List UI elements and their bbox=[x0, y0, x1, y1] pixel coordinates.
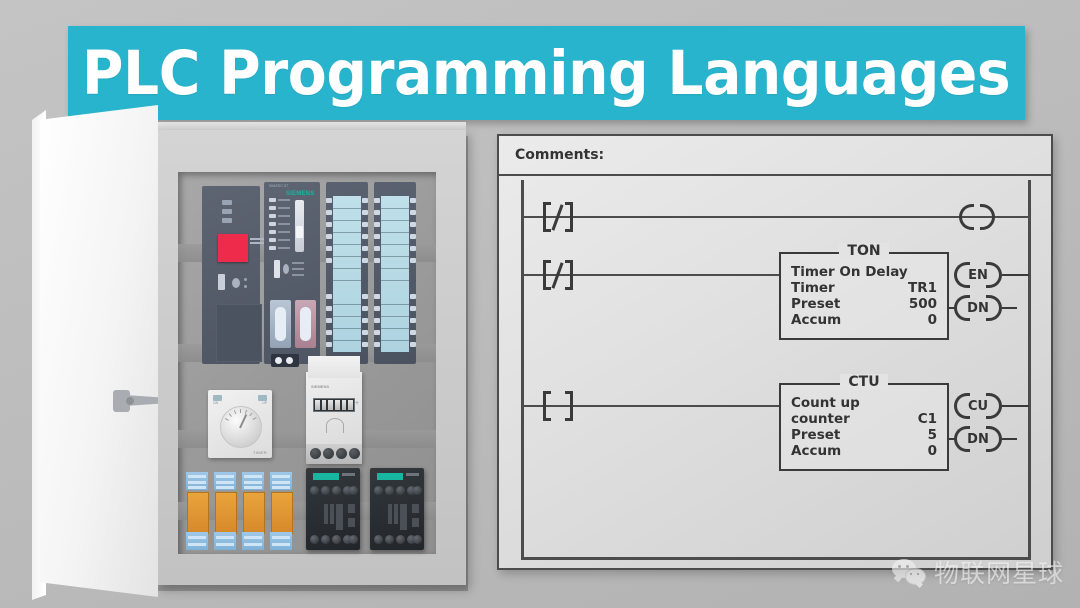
cpu-led-label bbox=[278, 199, 290, 201]
ton-row-value: TR1 bbox=[908, 280, 937, 296]
ctu-row-value: 0 bbox=[928, 443, 937, 459]
ton-row-label: Accum bbox=[791, 312, 841, 328]
rung-2-nc-contact[interactable] bbox=[543, 260, 573, 290]
ctu-block-title: CTU bbox=[781, 374, 947, 390]
fuse-terminal-block[interactable] bbox=[270, 472, 292, 550]
cpu-led-label bbox=[278, 239, 290, 241]
ctu-row: Accum 0 bbox=[791, 443, 937, 459]
cpu-module[interactable]: SIMATIC S7 SIEMENS bbox=[264, 182, 320, 364]
wechat-watermark: 物联网星球 bbox=[892, 554, 1064, 590]
timer-up-label: UP bbox=[262, 401, 267, 405]
cpu-led-label bbox=[278, 207, 290, 209]
ctu-row-label: Accum bbox=[791, 443, 841, 459]
counter-terminal-base bbox=[306, 444, 362, 464]
io-module[interactable] bbox=[374, 182, 416, 364]
ctu-row: Count up bbox=[791, 395, 937, 411]
timer-on-label: ON bbox=[213, 401, 218, 405]
key-switch[interactable] bbox=[274, 260, 280, 278]
fuse-terminal-block[interactable] bbox=[242, 472, 264, 550]
ton-row: Accum 0 bbox=[791, 312, 937, 328]
ctu-row-value: C1 bbox=[918, 411, 937, 427]
comments-label: Comments: bbox=[515, 147, 604, 163]
cpu-model-text: SIMATIC S7 bbox=[269, 184, 288, 188]
ctu-row: counter C1 bbox=[791, 411, 937, 427]
siemens-brand-label: SIEMENS bbox=[311, 384, 329, 389]
ton-dn-stub bbox=[949, 307, 957, 309]
screw-terminal[interactable] bbox=[349, 448, 360, 459]
ctu-dn-label: DN bbox=[954, 426, 1002, 452]
ton-row-value: 0 bbox=[928, 312, 937, 328]
profibus-port[interactable] bbox=[270, 300, 291, 348]
cpu-led-label bbox=[278, 223, 290, 225]
screw-terminal[interactable] bbox=[310, 448, 321, 459]
reset-button[interactable] bbox=[283, 264, 289, 274]
wechat-icon bbox=[892, 559, 926, 585]
ctu-cu-wire bbox=[1002, 405, 1029, 407]
comments-bar[interactable]: Comments: bbox=[499, 136, 1051, 176]
ctu-cu-coil[interactable]: CU bbox=[954, 393, 1002, 419]
emergency-stop-button[interactable] bbox=[218, 234, 248, 262]
cpu-led bbox=[269, 230, 276, 234]
timer-device-label: TIMER bbox=[253, 450, 267, 455]
cabinet-interior: SIMATIC S7 SIEMENS bbox=[178, 172, 436, 554]
screw-terminal[interactable] bbox=[323, 448, 334, 459]
contactor[interactable] bbox=[306, 468, 360, 550]
fuse-terminal-block[interactable] bbox=[214, 472, 236, 550]
io-module[interactable] bbox=[326, 182, 368, 364]
left-power-rail bbox=[521, 180, 524, 560]
cabinet-body: SIMATIC S7 SIEMENS bbox=[156, 130, 466, 585]
ton-row: Timer TR1 bbox=[791, 280, 937, 296]
ton-row-label: Timer bbox=[791, 280, 835, 296]
indicator-dot bbox=[244, 278, 247, 281]
ctu-row-label: counter bbox=[791, 411, 850, 427]
timer-adjust-knob[interactable] bbox=[220, 406, 262, 448]
mpi-port[interactable] bbox=[295, 300, 316, 348]
switch-label bbox=[292, 274, 304, 276]
cpu-led-label bbox=[278, 247, 290, 249]
ton-dn-label: DN bbox=[954, 295, 1002, 321]
terminal-strip bbox=[381, 196, 409, 352]
ton-dn-wire bbox=[1002, 307, 1017, 309]
ctu-row-value: 5 bbox=[928, 427, 937, 443]
status-led bbox=[222, 218, 232, 223]
cabinet-door[interactable] bbox=[40, 105, 158, 597]
ton-dn-coil[interactable]: DN bbox=[954, 295, 1002, 321]
rung-1-wire bbox=[523, 216, 1029, 218]
ctu-row-label: Preset bbox=[791, 427, 840, 443]
ton-block-title: TON bbox=[781, 243, 947, 259]
siemens-brand-label bbox=[313, 473, 339, 480]
page-title: PLC Programming Languages bbox=[82, 43, 1010, 104]
status-led bbox=[222, 209, 232, 214]
switch-label bbox=[292, 262, 304, 264]
ton-row: Preset 500 bbox=[791, 296, 937, 312]
ton-en-label: EN bbox=[954, 262, 1002, 288]
door-handle[interactable] bbox=[113, 390, 161, 412]
screenshot-canvas: PLC Programming Languages bbox=[0, 0, 1080, 608]
siemens-brand-label: SIEMENS bbox=[286, 191, 314, 197]
ton-row-value: 500 bbox=[909, 296, 937, 312]
mode-slider-switch[interactable] bbox=[295, 200, 304, 252]
ton-block-body: Timer On Delay Timer TR1 Preset 500 Accu… bbox=[791, 264, 937, 328]
ton-function-block[interactable]: TON Timer On Delay Timer TR1 Preset 500 … bbox=[779, 252, 949, 340]
ctu-dn-stub bbox=[949, 438, 957, 440]
contactor-model-label bbox=[406, 473, 419, 476]
cpu-led bbox=[269, 222, 276, 226]
terminal-strip bbox=[333, 196, 361, 352]
counter-display bbox=[313, 398, 355, 412]
contactor[interactable] bbox=[370, 468, 424, 550]
counter-symbol-icon bbox=[326, 418, 344, 433]
timer-relay-device[interactable]: ON UP TIMER bbox=[208, 390, 272, 458]
ctu-dn-coil[interactable]: DN bbox=[954, 426, 1002, 452]
counter-plus-label: + bbox=[355, 400, 359, 407]
cpu-led-label bbox=[278, 215, 290, 217]
plc-control-cabinet: SIMATIC S7 SIEMENS bbox=[0, 100, 480, 608]
right-power-rail bbox=[1028, 180, 1031, 560]
contactor-model-label bbox=[342, 473, 355, 476]
switch-label bbox=[292, 268, 304, 270]
rung-1-output-coil[interactable] bbox=[959, 204, 995, 230]
ctu-block-body: Count up counter C1 Preset 5 Accum 0 bbox=[791, 395, 937, 459]
status-led bbox=[222, 200, 232, 205]
watermark-text: 物联网星球 bbox=[934, 554, 1064, 590]
screw-terminal[interactable] bbox=[336, 448, 347, 459]
cpu-led-label bbox=[278, 231, 290, 233]
cpu-led bbox=[269, 198, 276, 202]
ton-row-label: Preset bbox=[791, 296, 840, 312]
counter-device[interactable]: SIEMENS + bbox=[306, 372, 362, 464]
ctu-row-label: Count up bbox=[791, 395, 860, 411]
rung-3-no-contact[interactable] bbox=[543, 391, 573, 421]
power-connector[interactable] bbox=[271, 354, 299, 367]
ctu-cu-label: CU bbox=[954, 393, 1002, 419]
cpu-led bbox=[269, 214, 276, 218]
siemens-brand-label bbox=[377, 473, 403, 480]
power-supply-module[interactable] bbox=[202, 186, 260, 364]
cpu-led bbox=[269, 246, 276, 250]
cpu-led bbox=[269, 238, 276, 242]
ctu-row: Preset 5 bbox=[791, 427, 937, 443]
ctu-function-block[interactable]: CTU Count up counter C1 Preset 5 Accum 0 bbox=[779, 383, 949, 471]
counter-top-cover bbox=[308, 356, 360, 378]
ton-row: Timer On Delay bbox=[791, 264, 937, 280]
ton-en-coil[interactable]: EN bbox=[954, 262, 1002, 288]
power-selector-knob[interactable] bbox=[232, 278, 240, 288]
power-switch[interactable] bbox=[218, 274, 225, 290]
ctu-dn-wire bbox=[1002, 438, 1017, 440]
cpu-led bbox=[269, 206, 276, 210]
blank-cover-panel bbox=[216, 304, 262, 362]
fuse-terminal-block[interactable] bbox=[186, 472, 208, 550]
ladder-logic-editor: Comments: TON Timer On D bbox=[497, 134, 1053, 570]
ton-en-wire bbox=[1002, 274, 1029, 276]
ton-row-label: Timer On Delay bbox=[791, 264, 908, 280]
indicator-dot bbox=[244, 285, 247, 288]
rung-1-nc-contact[interactable] bbox=[543, 202, 573, 232]
